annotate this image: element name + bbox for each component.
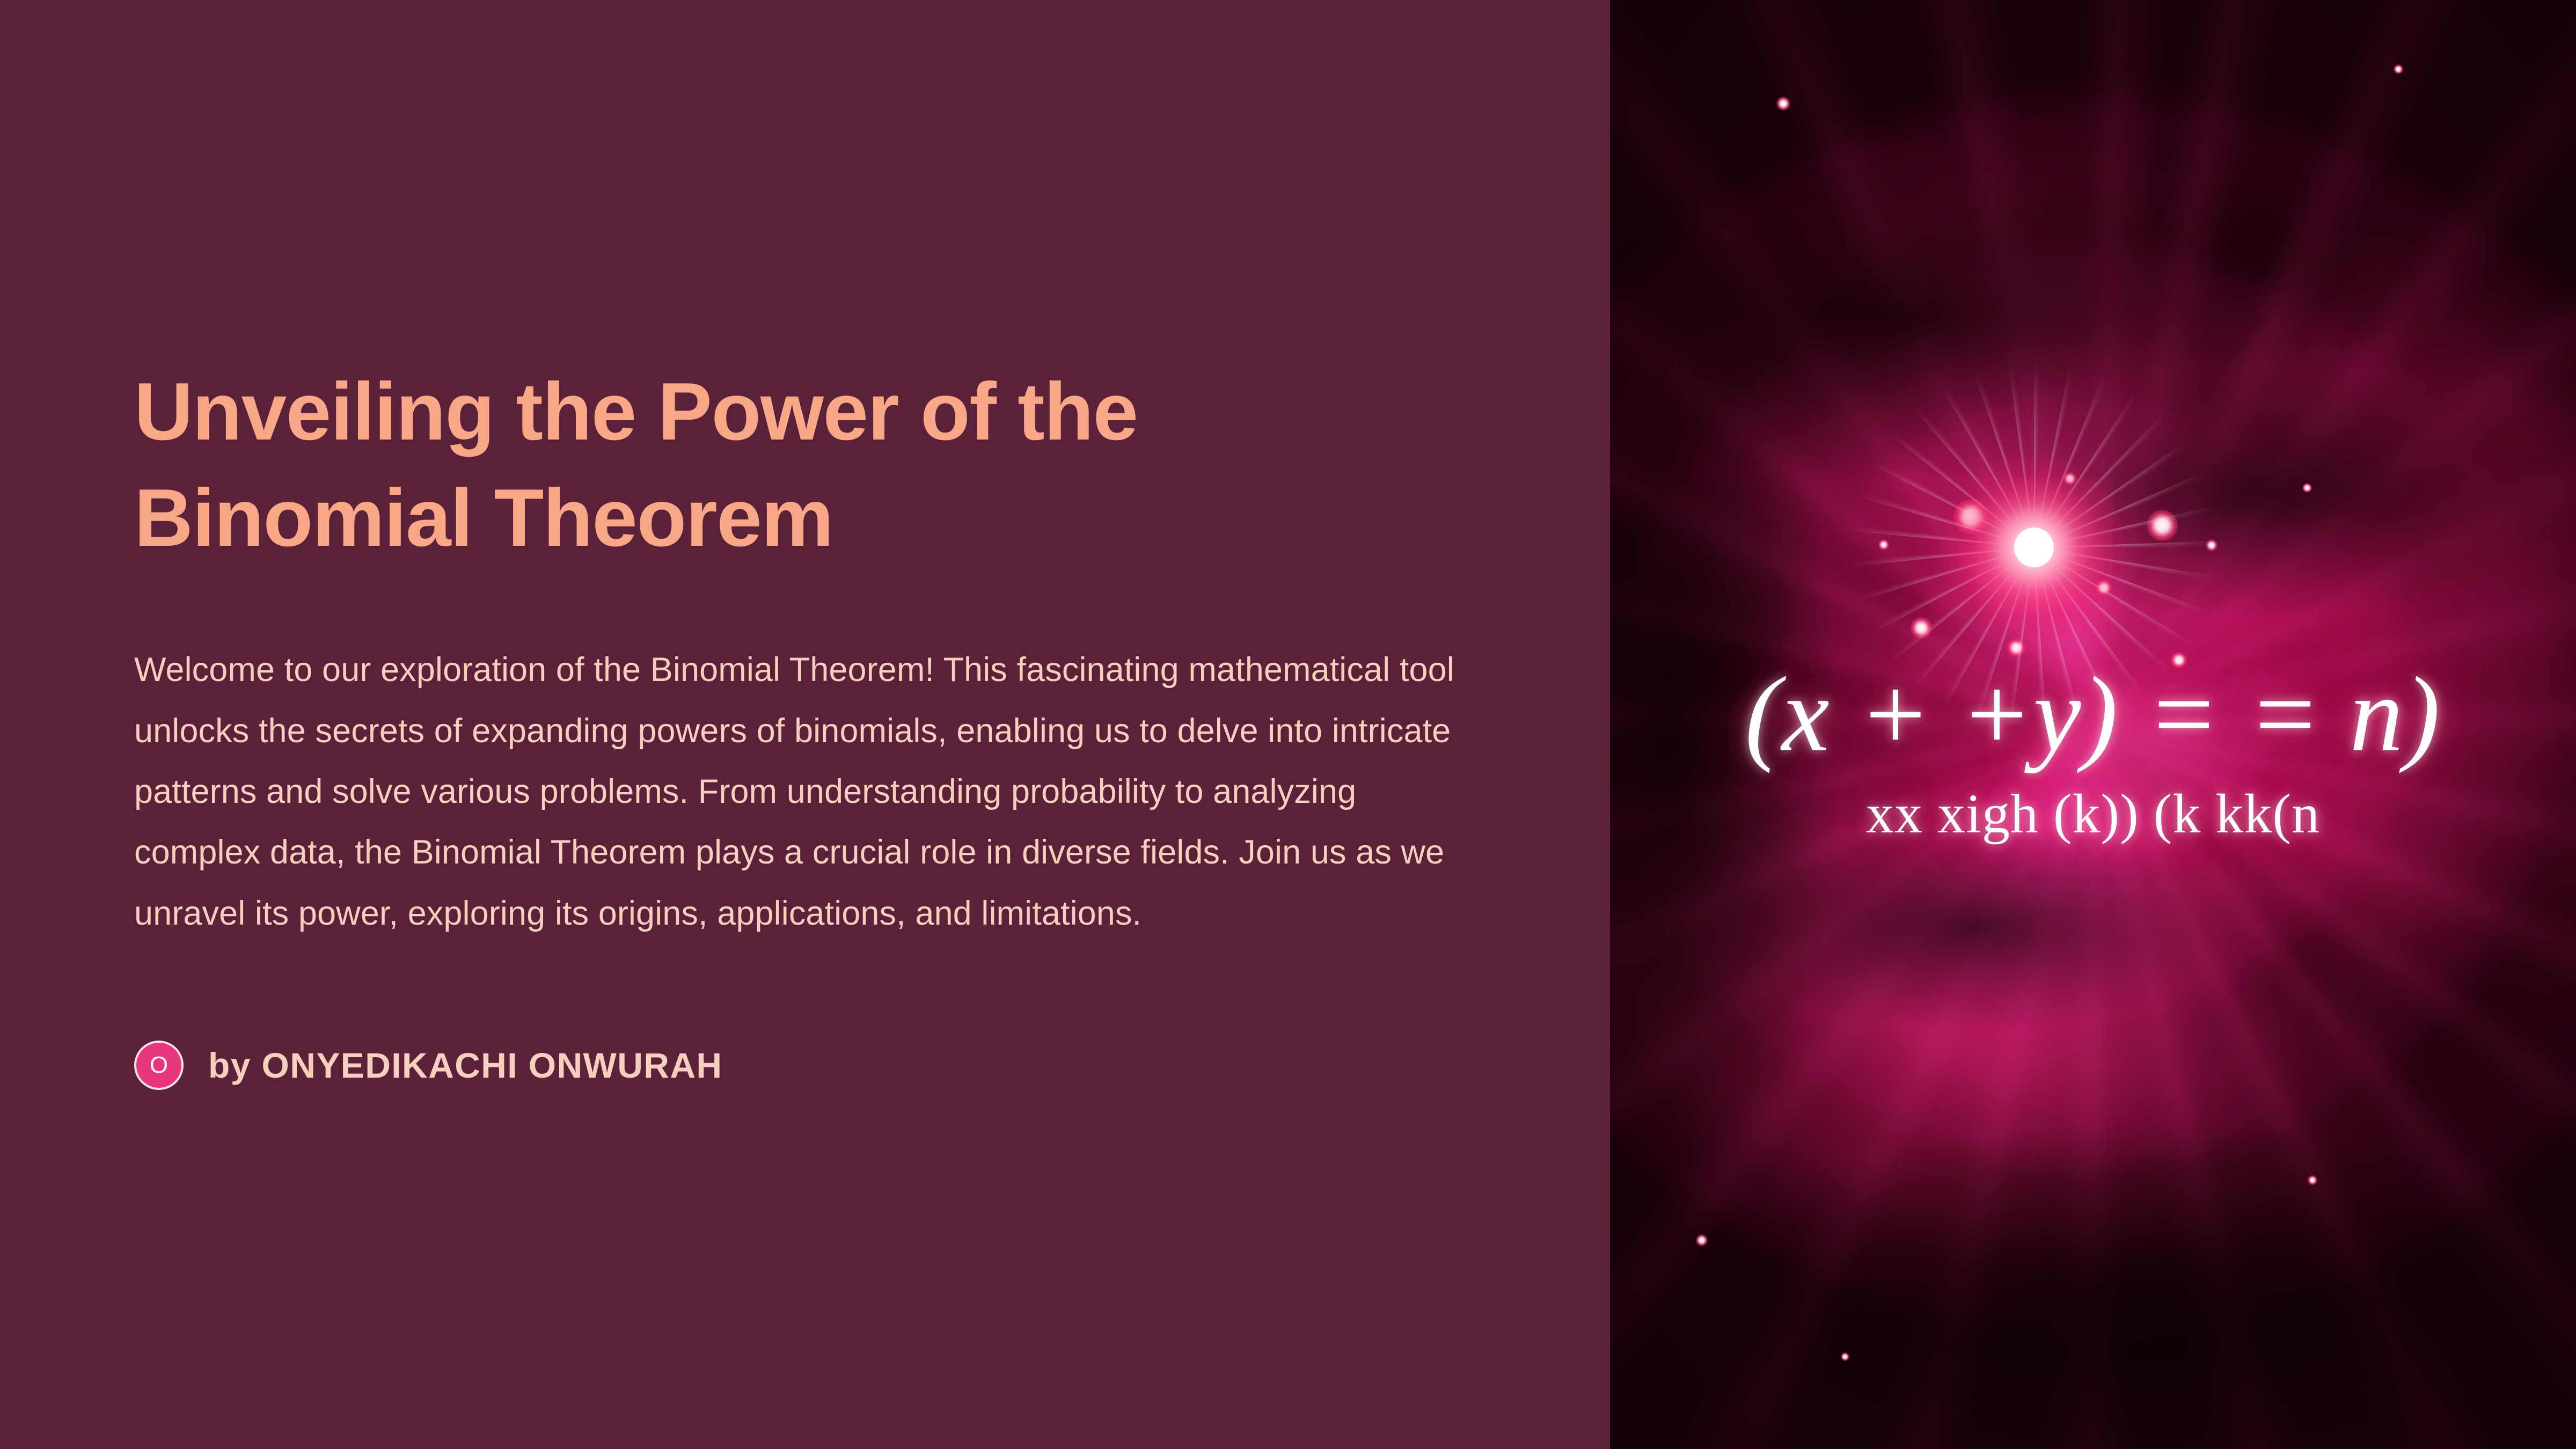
spark-icon (2394, 64, 2403, 74)
vortex-illustration: (x + +y) = = n) xx xigh (k)) (k kk(n (1610, 0, 2576, 1449)
spark-icon (1841, 1352, 1849, 1361)
starburst-icon (1943, 456, 2125, 639)
content-block: Unveiling the Power of the Binomial Theo… (134, 359, 1487, 1090)
intro-paragraph: Welcome to our exploration of the Binomi… (134, 640, 1487, 944)
spark-icon (1776, 97, 1790, 111)
spark-icon (2308, 1175, 2317, 1185)
starburst-core (2014, 528, 2054, 567)
page-title: Unveiling the Power of the Binomial Theo… (134, 359, 1288, 571)
byline: O by ONYEDIKACHI ONWURAH (134, 1041, 1487, 1090)
artwork-panel: (x + +y) = = n) xx xigh (k)) (k kk(n (1610, 0, 2576, 1449)
text-panel: Unveiling the Power of the Binomial Theo… (0, 0, 1610, 1449)
avatar: O (134, 1041, 184, 1090)
spark-icon (1696, 1234, 1708, 1246)
avatar-initial: O (150, 1053, 168, 1077)
byline-label: by ONYEDIKACHI ONWURAH (208, 1045, 722, 1086)
hero-slide: Unveiling the Power of the Binomial Theo… (0, 0, 2576, 1449)
